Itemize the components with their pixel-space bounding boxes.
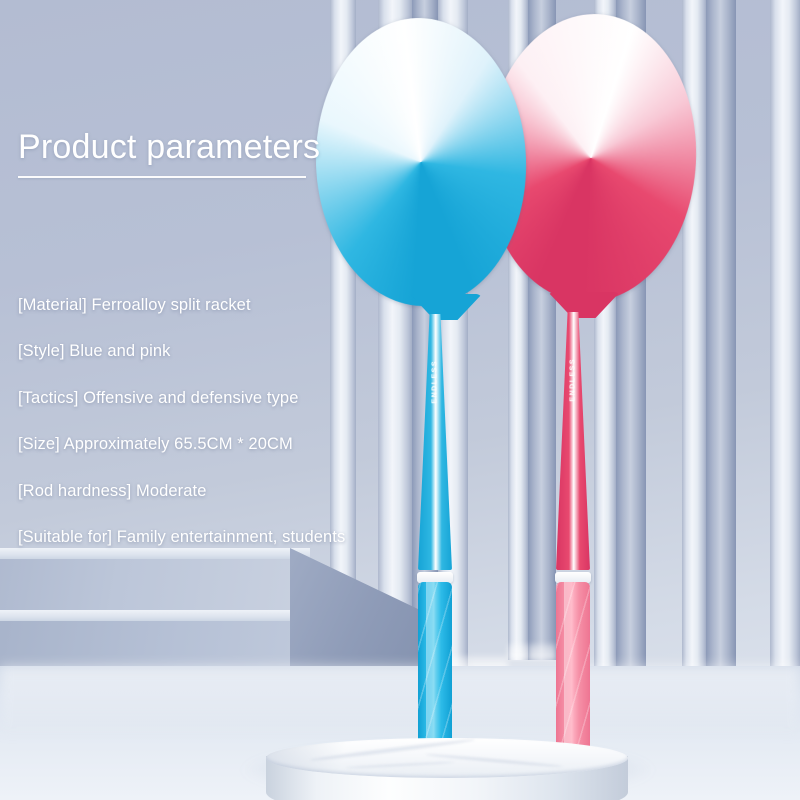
column-14	[736, 0, 770, 694]
pink-shaft-brand: ENDLESS	[570, 358, 577, 402]
column-15	[770, 0, 800, 694]
floor-reflection	[0, 666, 800, 736]
blue-shaft-brand: ENDLESS	[432, 360, 439, 404]
marble-vein	[346, 762, 455, 770]
stair-step-upper	[0, 548, 310, 610]
column-13	[706, 0, 736, 706]
pink-grip-highlight	[564, 582, 574, 764]
pink-grip	[556, 582, 590, 764]
column-base	[528, 644, 556, 660]
podium-top-surface	[266, 738, 628, 778]
stair-tread	[0, 548, 310, 559]
stair-riser	[0, 559, 310, 610]
product-image: ENDLESS ENDLESS Product parameters	[0, 0, 800, 800]
marble-vein	[425, 753, 562, 768]
column-base	[508, 644, 528, 660]
